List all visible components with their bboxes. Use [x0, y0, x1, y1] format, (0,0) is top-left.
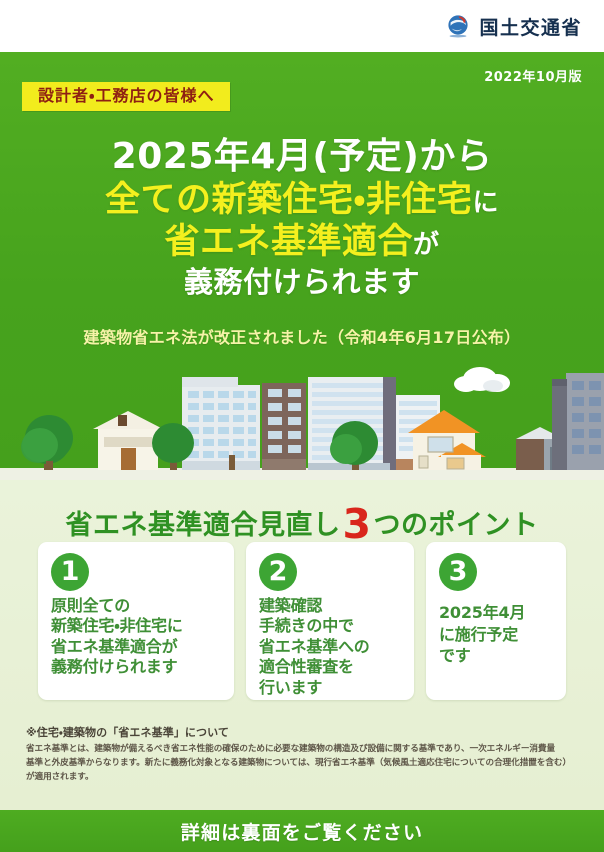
audience-badge: 設計者・工務店の皆様へ [22, 82, 230, 111]
headline-line-1: 2025年4月(予定)から [0, 136, 604, 178]
point-card-1-line-3: 省エネ基準適合が [51, 637, 222, 657]
points-title-suffix: つのポイント [374, 510, 539, 541]
hero-panel: 2022年10月版 設計者・工務店の皆様へ 2025年4月(予定)から 全ての新… [0, 52, 604, 480]
footnote-title: ※住宅・建築物の「省エネ基準」について [26, 724, 578, 740]
point-card-1-line-2: 新築住宅・非住宅に [51, 616, 222, 636]
point-card-2-line-1: 建築確認 [259, 596, 402, 616]
point-card-2-line-2: 手続きの中で [259, 616, 402, 636]
headline-line-2: 全ての新築住宅・非住宅に [0, 180, 604, 221]
ministry-logo-row: 国土交通省 [445, 13, 582, 40]
city-skyline-illustration [0, 355, 604, 480]
point-card-2-line-5: 行います [259, 678, 402, 698]
points-panel: 省エネ基準適合見直し3つのポイント 1 原則全ての 新築住宅・非住宅に 省エネ基… [0, 480, 604, 810]
footnote-body: 省エネ基準とは、建築物が備えるべき省エネ性能の確保のために必要な建築物の構造及び… [26, 743, 578, 785]
point-card-1-line-1: 原則全ての [51, 596, 222, 616]
headline-line-3-highlight: 省エネ基準適合 [164, 222, 413, 262]
point-card-3-line-1: 2025年4月 [439, 602, 554, 624]
points-title-number: 3 [340, 500, 373, 548]
mlit-swirl-logo-icon [445, 13, 471, 39]
headline-line-4: 義務付けられます [0, 266, 604, 300]
point-card-1[interactable]: 1 原則全ての 新築住宅・非住宅に 省エネ基準適合が 義務付けられます [38, 542, 234, 700]
poster-root: 国土交通省 2022年10月版 設計者・工務店の皆様へ 2025年4月(予定)か… [0, 0, 604, 852]
footnote-body-line-2: 基準と外皮基準からなります。新たに義務化対象となる建築物については、現行省エネ基… [26, 757, 578, 771]
points-title: 省エネ基準適合見直し3つのポイント [0, 500, 604, 548]
hero-headline: 2025年4月(予定)から 全ての新築住宅・非住宅に 省エネ基準適合が 義務付け… [0, 136, 604, 300]
point-number-badge-3: 3 [439, 553, 477, 591]
version-label: 2022年10月版 [484, 66, 582, 85]
headline-line-2-highlight: 全ての新築住宅・非住宅 [105, 180, 472, 220]
point-card-3-text: 2025年4月 に施行予定 です [439, 602, 554, 667]
point-card-2-line-4: 適合性審査を [259, 657, 402, 677]
points-title-prefix: 省エネ基準適合見直し [65, 510, 340, 541]
law-revision-note: 建築物省エネ法が改正されました（令和4年6月17日公布） [0, 324, 604, 348]
point-card-2-text: 建築確認 手続きの中で 省エネ基準への 適合性審査を 行います [259, 596, 402, 698]
headline-line-3-tail: が [413, 230, 440, 260]
point-card-2-line-3: 省エネ基準への [259, 637, 402, 657]
points-card-list: 1 原則全ての 新築住宅・非住宅に 省エネ基準適合が 義務付けられます 2 建築… [38, 542, 566, 700]
page-header: 国土交通省 [0, 0, 604, 52]
point-number-badge-1: 1 [51, 553, 89, 591]
footnote-body-line-3: が適用されます。 [26, 771, 578, 785]
ministry-name: 国土交通省 [479, 13, 582, 40]
point-card-2[interactable]: 2 建築確認 手続きの中で 省エネ基準への 適合性審査を 行います [246, 542, 414, 700]
point-card-3-line-3: です [439, 645, 554, 667]
headline-line-3: 省エネ基準適合が [0, 222, 604, 263]
footer-cta-bar: 詳細は裏面をご覧ください [0, 810, 604, 852]
headline-line-2-tail: に [472, 188, 499, 218]
point-card-3[interactable]: 3 2025年4月 に施行予定 です [426, 542, 566, 700]
point-number-badge-2: 2 [259, 553, 297, 591]
footer-cta-text: 詳細は裏面をご覧ください [181, 818, 423, 845]
point-card-1-line-4: 義務付けられます [51, 657, 222, 677]
point-card-3-line-2: に施行予定 [439, 624, 554, 646]
point-card-1-text: 原則全ての 新築住宅・非住宅に 省エネ基準適合が 義務付けられます [51, 596, 222, 678]
footnote-block: ※住宅・建築物の「省エネ基準」について 省エネ基準とは、建築物が備えるべき省エネ… [26, 724, 578, 785]
footnote-body-line-1: 省エネ基準とは、建築物が備えるべき省エネ性能の確保のために必要な建築物の構造及び… [26, 743, 578, 757]
